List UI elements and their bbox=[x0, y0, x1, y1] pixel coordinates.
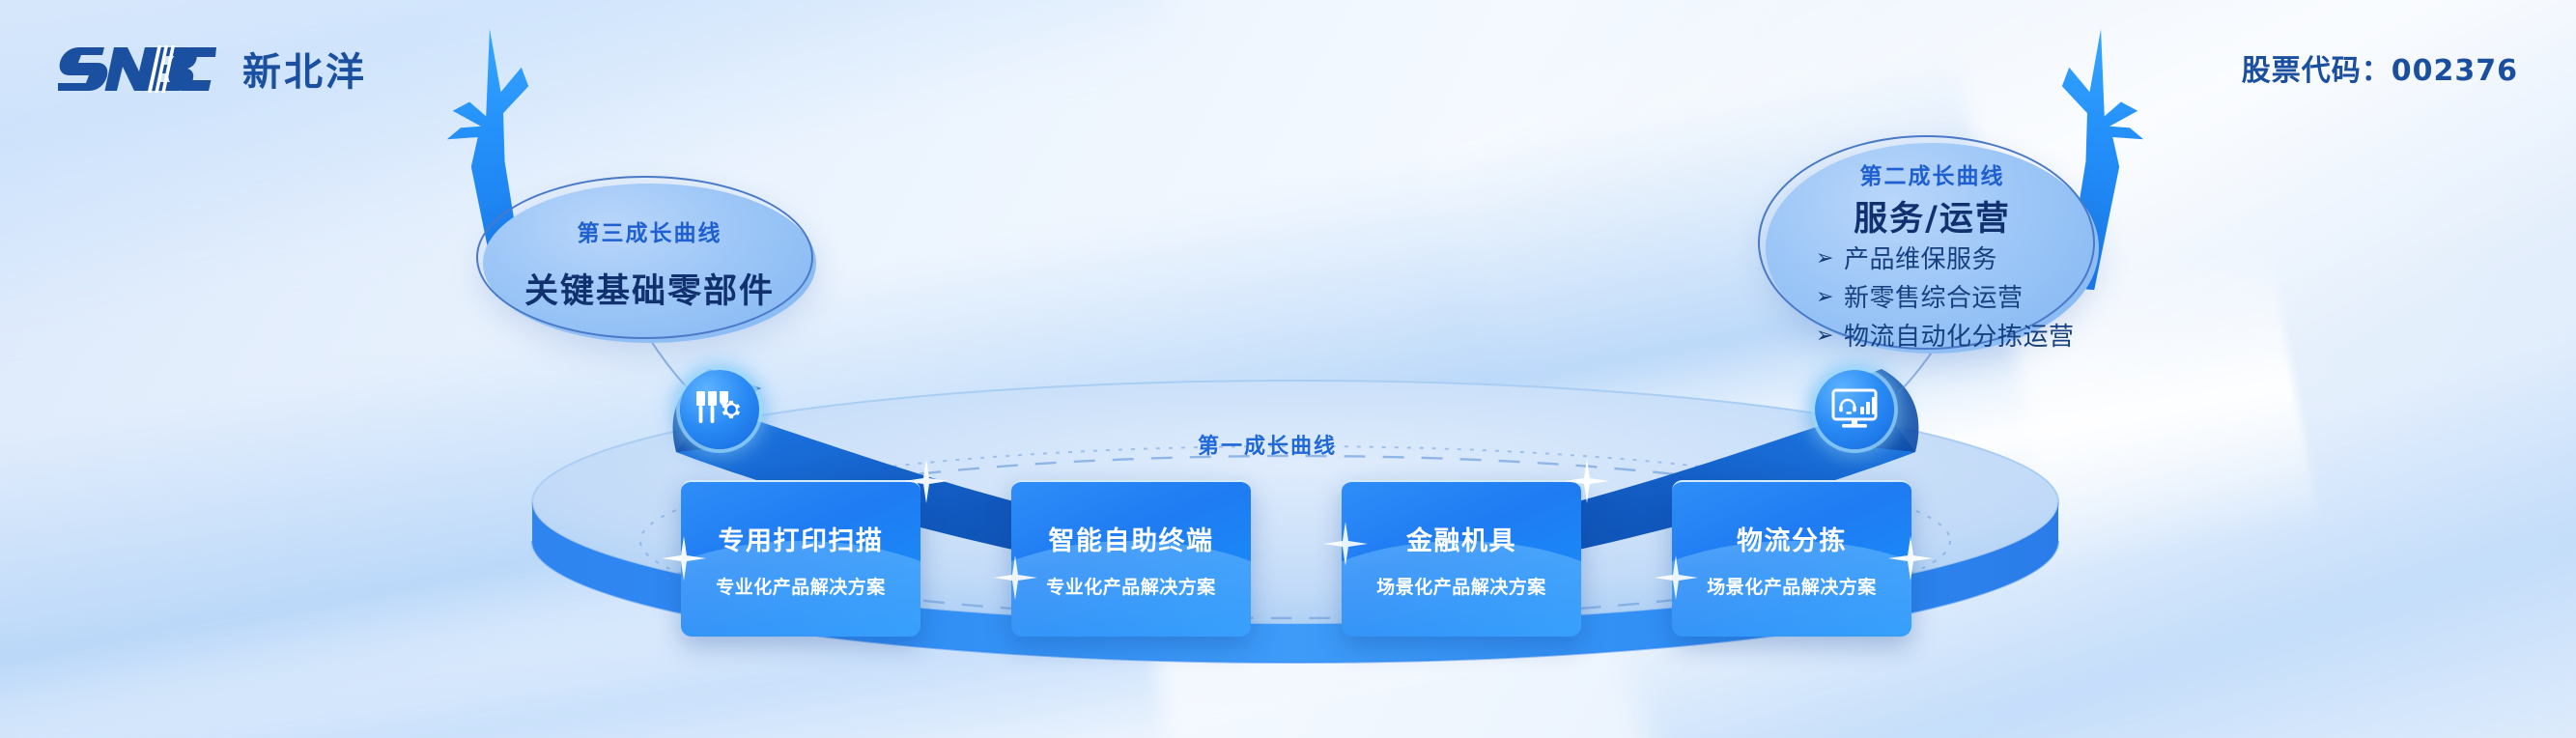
service-monitor-glyph bbox=[1830, 387, 1879, 432]
third-curve-eyebrow: 第三成长曲线 bbox=[483, 214, 816, 247]
product-card[interactable]: 金融机具 场景化产品解决方案 bbox=[1342, 480, 1581, 637]
card-subtitle: 场景化产品解决方案 bbox=[1376, 573, 1546, 599]
third-curve-title: 关键基础零部件 bbox=[483, 264, 816, 313]
card-title: 物流分拣 bbox=[1737, 520, 1847, 557]
bullet-item: ➢ 新零售综合运营 bbox=[1816, 278, 2096, 314]
infographic-canvas: 新北洋 股票代码：002376 bbox=[0, 0, 2576, 738]
card-title: 专用打印扫描 bbox=[719, 520, 884, 557]
bullet-arrow-icon: ➢ bbox=[1816, 325, 1834, 346]
bullet-arrow-icon: ➢ bbox=[1816, 247, 1834, 269]
card-title: 智能自助终端 bbox=[1049, 520, 1214, 557]
bullet-label: 物流自动化分拣运营 bbox=[1844, 317, 2075, 353]
card-subtitle: 专业化产品解决方案 bbox=[716, 573, 886, 599]
third-curve-bubble-outline bbox=[476, 176, 813, 339]
card-subtitle: 场景化产品解决方案 bbox=[1707, 573, 1877, 599]
card-title: 金融机具 bbox=[1406, 520, 1516, 557]
service-monitor-headset-chart-icon[interactable] bbox=[1815, 370, 1894, 449]
bullet-arrow-icon: ➢ bbox=[1816, 286, 1834, 307]
second-curve-eyebrow: 第二成长曲线 bbox=[1766, 157, 2099, 190]
bullet-item: ➢ 物流自动化分拣运营 bbox=[1816, 317, 2096, 353]
second-curve-bullets: ➢ 产品维保服务 ➢ 新零售综合运营 ➢ 物流自动化分拣运营 bbox=[1816, 240, 2096, 353]
product-card[interactable]: 智能自助终端 专业化产品解决方案 bbox=[1011, 480, 1251, 637]
bullet-item: ➢ 产品维保服务 bbox=[1816, 240, 2096, 275]
product-card[interactable]: 专用打印扫描 专业化产品解决方案 bbox=[681, 480, 920, 637]
card-subtitle: 专业化产品解决方案 bbox=[1046, 573, 1216, 599]
bullet-label: 新零售综合运营 bbox=[1844, 278, 2024, 314]
stock-code-text: 股票代码：002376 bbox=[2242, 46, 2518, 89]
components-gear-glyph bbox=[694, 387, 745, 432]
components-gear-icon[interactable] bbox=[680, 370, 759, 449]
first-curve-label: 第一成长曲线 bbox=[1198, 429, 1337, 460]
snbc-logo: 新北洋 bbox=[58, 41, 367, 97]
second-curve-title: 服务/运营 bbox=[1766, 191, 2099, 241]
product-card[interactable]: 物流分拣 场景化产品解决方案 bbox=[1672, 480, 1911, 637]
logo-chinese-name: 新北洋 bbox=[242, 41, 367, 97]
bullet-label: 产品维保服务 bbox=[1844, 240, 1997, 275]
snbc-wordmark-icon bbox=[58, 43, 227, 94]
